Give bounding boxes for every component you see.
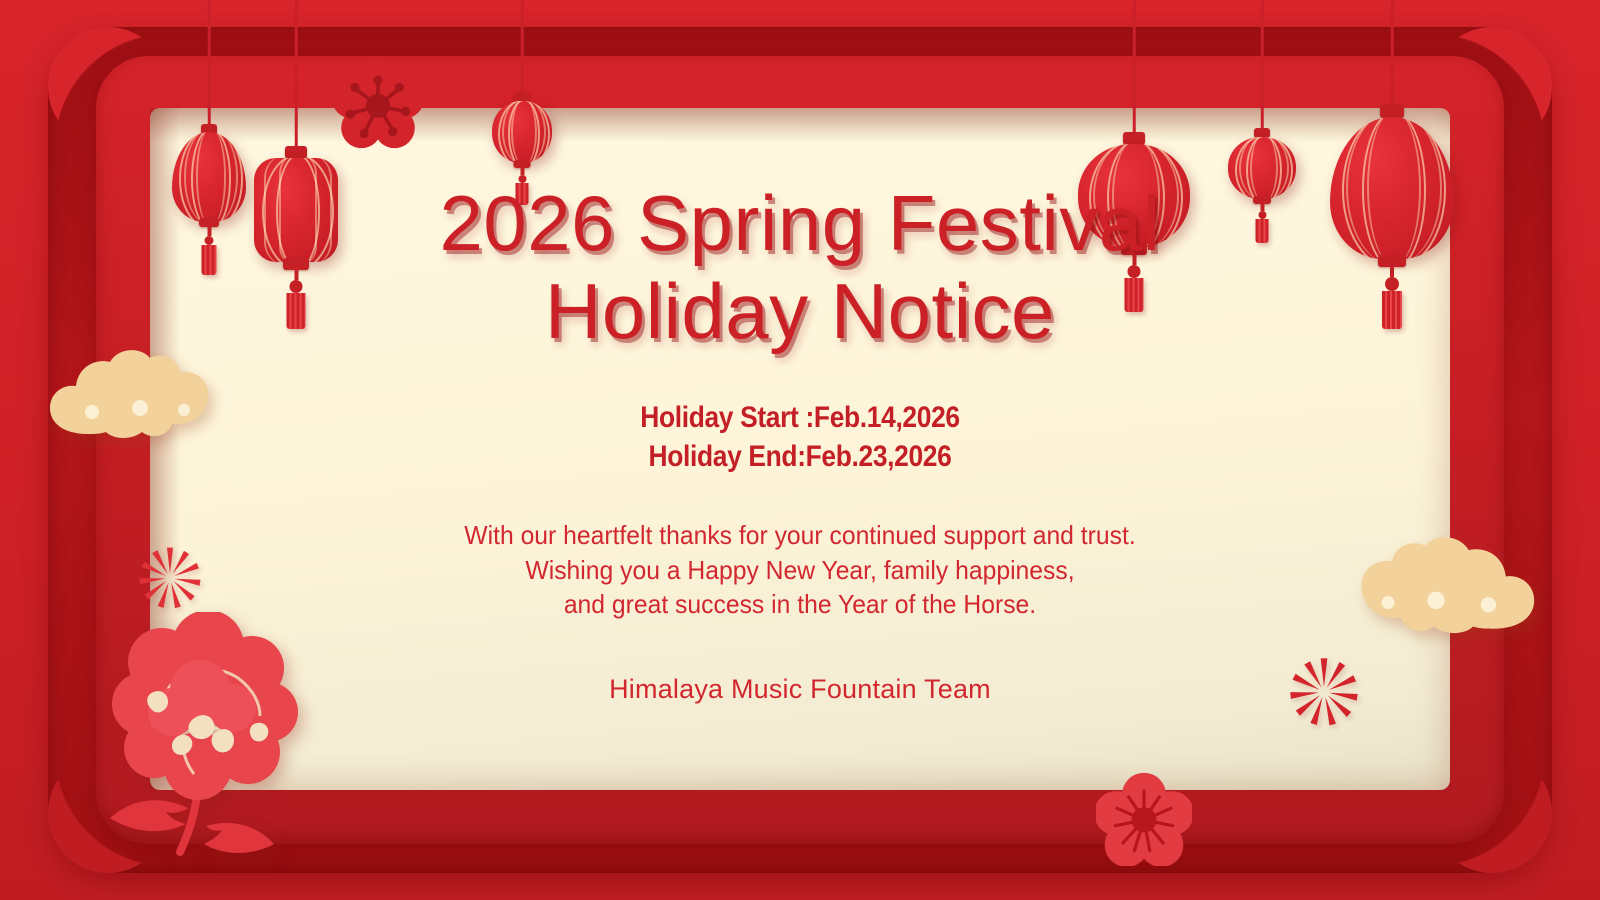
team-signature: Himalaya Music Fountain Team — [0, 674, 1600, 705]
holiday-start-date: Holiday Start :Feb.14,2026 — [96, 398, 1504, 437]
notice-content: 2026 Spring Festival Holiday Notice Holi… — [0, 0, 1600, 705]
message-line-2: Wishing you a Happy New Year, family hap… — [40, 553, 1560, 588]
page-title: 2026 Spring Festival Holiday Notice — [0, 0, 1600, 348]
holiday-end-date: Holiday End:Feb.23,2026 — [96, 437, 1504, 476]
message-line-1: With our heartfelt thanks for your conti… — [40, 518, 1560, 553]
holiday-dates: Holiday Start :Feb.14,2026 Holiday End:F… — [0, 398, 1600, 476]
message-line-3: and great success in the Year of the Hor… — [40, 587, 1560, 622]
plum-blossom-bottom-center — [1096, 770, 1192, 871]
thank-you-message: With our heartfelt thanks for your conti… — [0, 518, 1600, 622]
spring-festival-poster: 2026 Spring Festival Holiday Notice Holi… — [0, 0, 1600, 900]
title-line-1: 2026 Spring Festival — [439, 179, 1160, 267]
title-line-2: Holiday Notice — [0, 274, 1600, 348]
